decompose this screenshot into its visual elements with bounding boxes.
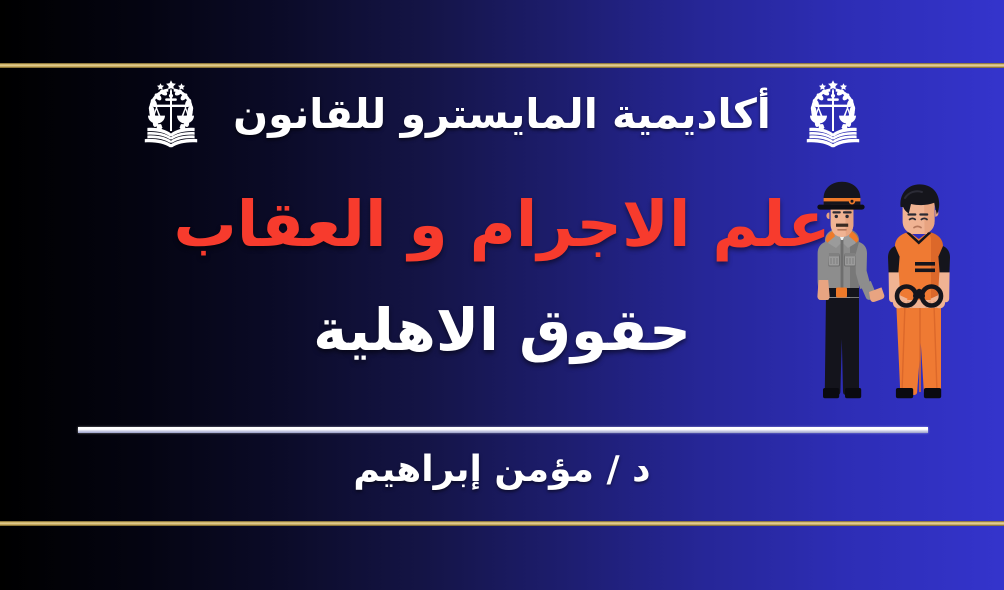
presenter-name: د / مؤمن إبراهيم bbox=[0, 448, 1004, 491]
gold-rule-top bbox=[0, 63, 1004, 68]
header: أكاديمية المايسترو للقانون bbox=[0, 72, 1004, 158]
gold-rule-bottom bbox=[0, 521, 1004, 526]
handcuffed-prisoner-figure bbox=[888, 184, 950, 398]
academy-name: أكاديمية المايسترو للقانون bbox=[233, 93, 771, 136]
white-divider bbox=[78, 427, 928, 433]
scales-of-justice-book-logo-left bbox=[797, 77, 869, 153]
presentation-slide: أكاديمية المايسترو للقانون bbox=[0, 0, 1004, 590]
scales-of-justice-book-logo-right bbox=[135, 77, 207, 153]
police-officer-figure bbox=[817, 182, 884, 398]
police-officer-arresting-handcuffed-prisoner-illustration bbox=[792, 176, 1000, 416]
